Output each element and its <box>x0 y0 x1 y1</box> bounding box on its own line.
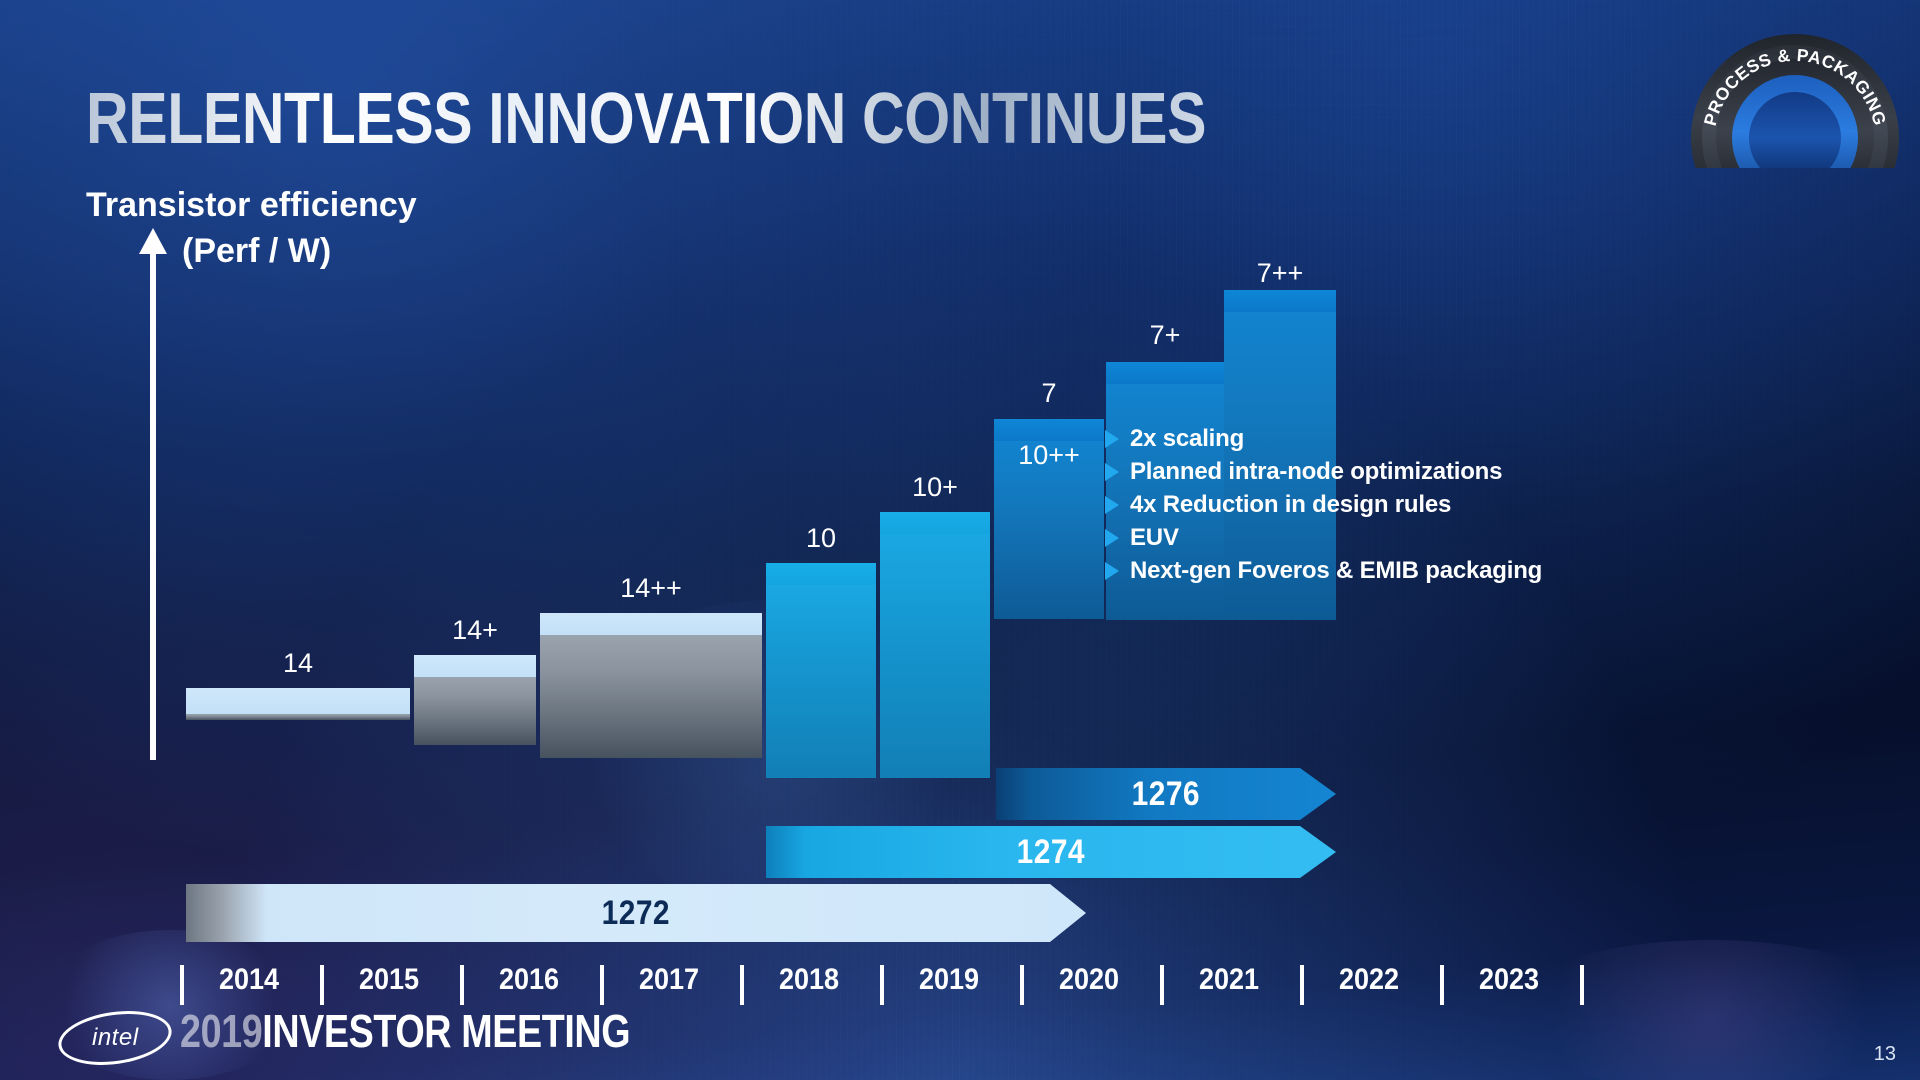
bullet-text: 4x Reduction in design rules <box>1130 491 1451 519</box>
bar-label-7: 7 <box>990 378 1108 409</box>
feature-bullet-list: 2x scaling Planned intra-node optimizati… <box>1105 425 1542 590</box>
bar-cap <box>540 613 762 635</box>
bar-cap <box>186 688 410 714</box>
x-axis-year-2018: 2018 <box>751 963 868 997</box>
bullet-text: Planned intra-node optimizations <box>1130 458 1502 486</box>
bar-14plus <box>414 655 536 745</box>
triangle-bullet-icon <box>1105 529 1119 547</box>
list-item: Planned intra-node optimizations <box>1105 458 1542 486</box>
x-axis-year-2022: 2022 <box>1311 963 1428 997</box>
process-arrow-1272: 1272 <box>186 884 1086 942</box>
x-axis-year-2015: 2015 <box>331 963 448 997</box>
bar-cap <box>880 512 990 534</box>
y-axis-label-line1: Transistor efficiency <box>86 186 417 225</box>
bar-cap <box>414 655 536 677</box>
bar-10 <box>766 563 876 778</box>
bullet-text: 2x scaling <box>1130 425 1244 453</box>
bar-cap <box>1106 362 1224 384</box>
bar-label-7plusplus: 7++ <box>1224 258 1336 289</box>
bar-body <box>186 714 410 720</box>
bar-10plus <box>880 512 990 778</box>
x-axis-year-2023: 2023 <box>1451 963 1568 997</box>
bar-label-10plus: 10+ <box>880 472 990 503</box>
bar-label-14plusplus: 14++ <box>540 573 762 604</box>
process-arrow-1276: 1276 <box>996 768 1336 820</box>
x-axis-year-2020: 2020 <box>1031 963 1148 997</box>
triangle-bullet-icon <box>1105 496 1119 514</box>
bar-cap <box>1224 290 1336 312</box>
slide-root: RELENTLESS INNOVATION CONTINUES Transist… <box>0 0 1920 1080</box>
page-title: RELENTLESS INNOVATION CONTINUES <box>86 78 1206 160</box>
bullet-text: Next-gen Foveros & EMIB packaging <box>1130 557 1542 585</box>
list-item: 2x scaling <box>1105 425 1542 453</box>
bar-cap <box>766 563 876 585</box>
bar-body <box>540 635 762 758</box>
x-axis-year-2021: 2021 <box>1171 963 1288 997</box>
footer-event-title: 2019INVESTOR MEETING <box>180 1004 630 1058</box>
slide-number: 13 <box>1874 1043 1896 1066</box>
y-axis-label-line2: (Perf / W) <box>182 232 331 271</box>
process-arrow-1274: 1274 <box>766 826 1336 878</box>
x-axis-year-2019: 2019 <box>891 963 1008 997</box>
process-packaging-badge: PROCESS & PACKAGING <box>1688 18 1902 168</box>
bar-body <box>414 677 536 745</box>
process-arrow-label: 1272 <box>602 894 670 933</box>
bar-body <box>766 585 876 778</box>
intel-logo-text: intel <box>92 1024 139 1052</box>
bar-14 <box>186 688 410 720</box>
x-axis-year-2017: 2017 <box>611 963 728 997</box>
footer-year: 2019 <box>180 1005 262 1057</box>
process-arrow-label: 1276 <box>1132 775 1200 814</box>
bar-body <box>880 534 990 778</box>
bar-14plusplus <box>540 613 762 758</box>
triangle-bullet-icon <box>1105 562 1119 580</box>
process-arrow-label: 1274 <box>1017 833 1085 872</box>
bar-label-14: 14 <box>186 648 410 679</box>
x-axis-year-2014: 2014 <box>191 963 308 997</box>
bar-label-10plusplus: 10++ <box>994 440 1104 471</box>
footer-event: INVESTOR MEETING <box>262 1005 630 1057</box>
badge-text-arc: PROCESS & PACKAGING <box>1688 18 1902 168</box>
list-item: 4x Reduction in design rules <box>1105 491 1542 519</box>
bar-label-14plus: 14+ <box>414 615 536 646</box>
bar-label-7plus: 7+ <box>1106 320 1224 351</box>
y-axis-line <box>150 248 156 760</box>
triangle-bullet-icon <box>1105 430 1119 448</box>
list-item: EUV <box>1105 524 1542 552</box>
list-item: Next-gen Foveros & EMIB packaging <box>1105 557 1542 585</box>
triangle-bullet-icon <box>1105 463 1119 481</box>
bar-label-10: 10 <box>766 523 876 554</box>
x-axis-year-2016: 2016 <box>471 963 588 997</box>
badge-label: PROCESS & PACKAGING <box>1700 45 1890 128</box>
bar-cap <box>994 419 1104 441</box>
bullet-text: EUV <box>1130 524 1179 552</box>
